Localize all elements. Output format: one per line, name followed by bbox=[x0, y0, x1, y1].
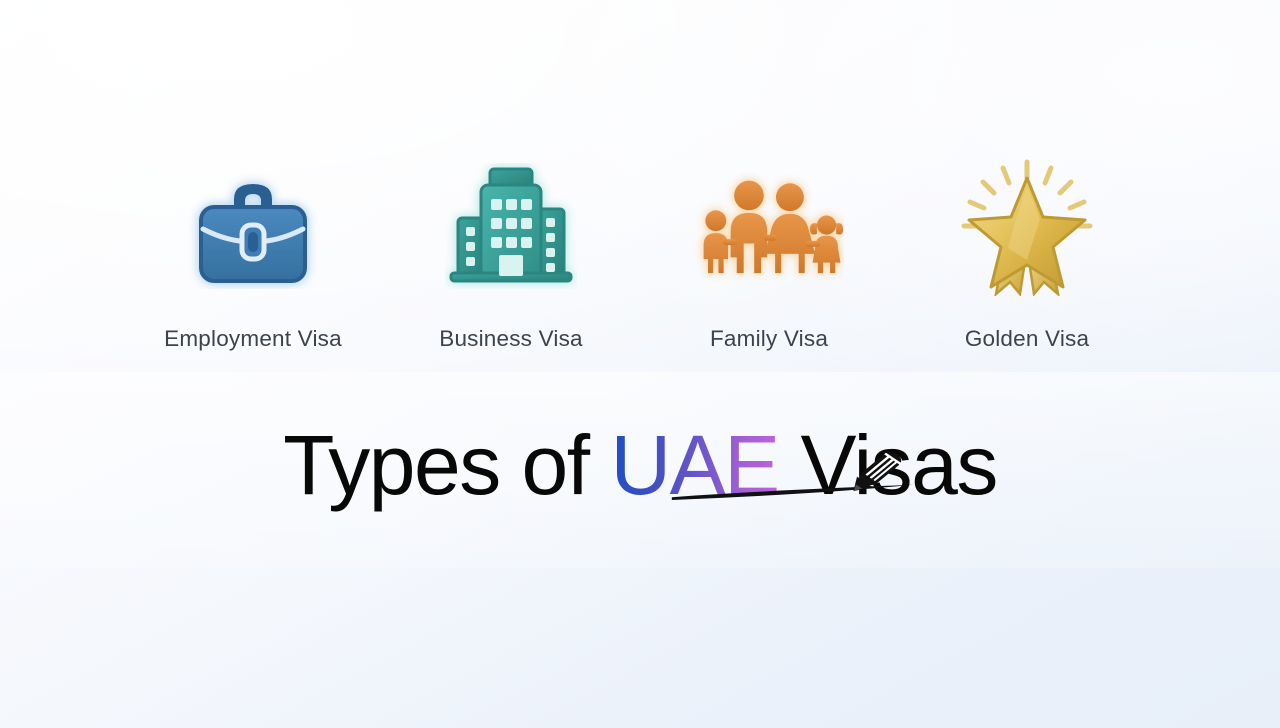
headline-block: Types of UAE Visas bbox=[0, 405, 1280, 525]
visa-card-label: Golden Visa bbox=[965, 326, 1089, 352]
visa-card-label: Family Visa bbox=[710, 326, 828, 352]
title-part-one: Types of bbox=[283, 418, 610, 512]
briefcase-icon bbox=[178, 156, 328, 296]
visa-card-label: Business Visa bbox=[439, 326, 583, 352]
visa-card-employment[interactable]: Employment Visa bbox=[124, 156, 382, 352]
gold-star-award-icon bbox=[952, 156, 1102, 296]
office-building-icon bbox=[436, 156, 586, 296]
title-highlight-uae: UAE bbox=[610, 418, 778, 512]
visa-card-golden[interactable]: Golden Visa bbox=[898, 156, 1156, 352]
visa-card-business[interactable]: Business Visa bbox=[382, 156, 640, 352]
visa-card-family[interactable]: Family Visa bbox=[640, 156, 898, 352]
visa-type-card-row: Employment Visa bbox=[0, 156, 1280, 368]
family-icon bbox=[694, 156, 844, 296]
visa-card-label: Employment Visa bbox=[164, 326, 342, 352]
page-title: Types of UAE Visas bbox=[283, 423, 997, 507]
infographic-canvas: Employment Visa bbox=[0, 0, 1280, 728]
title-part-two: Visas bbox=[779, 418, 997, 512]
